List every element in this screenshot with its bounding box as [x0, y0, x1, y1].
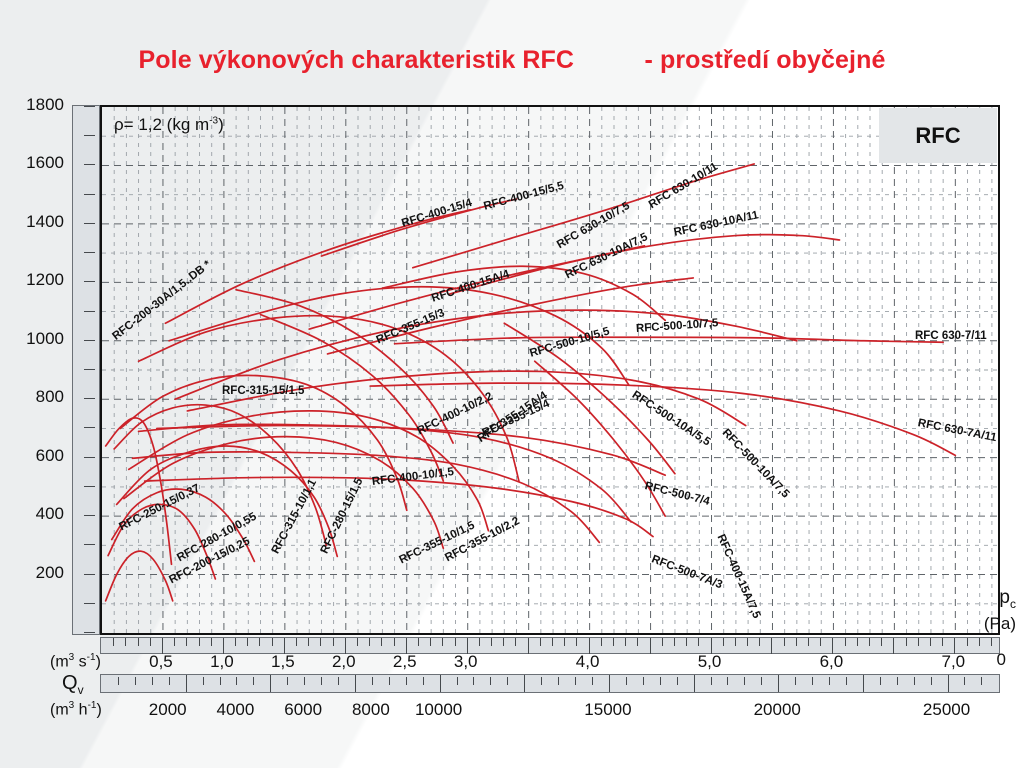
qv-axis-tick [609, 675, 610, 692]
y-axis-tick [84, 603, 95, 604]
x-axis-tick [394, 638, 395, 646]
qv-axis-tick [778, 675, 779, 692]
x-axis-tick [552, 638, 553, 646]
y-axis-tick [84, 223, 95, 224]
y-axis-symbol: p [999, 587, 1010, 608]
x-axis-tick [918, 638, 919, 646]
curve-label: RFC-315-15/1,5 [222, 385, 304, 397]
x-axis-tick [430, 638, 431, 646]
qv-axis-tick-label: 20000 [754, 700, 801, 720]
x-axis-secondary-symbol: Qv [62, 672, 84, 697]
qv-axis-tick [389, 677, 390, 685]
performance-curve [132, 452, 599, 543]
x-axis-tick [906, 638, 907, 646]
qv-axis-tick [440, 675, 441, 692]
y-axis-tick [84, 340, 95, 341]
y-axis-title: pc (Pa) [984, 588, 1016, 634]
x-axis-tick [796, 638, 797, 646]
x-axis-tick-label: 1,0 [210, 652, 234, 672]
qv-axis-tick [118, 677, 119, 685]
y-axis-tick [84, 544, 95, 545]
x-axis-tick [625, 638, 626, 646]
y-axis-tick [84, 106, 95, 107]
x-axis-tick-label: 6,0 [820, 652, 844, 672]
qv-axis-tick [541, 677, 542, 685]
x-axis-tick [881, 638, 882, 646]
x-axis-tick [138, 638, 139, 646]
qv-axis-tick [355, 675, 356, 692]
y-axis-tick-label: 200 [36, 563, 64, 583]
qv-axis-tick [829, 677, 830, 685]
x-axis-tick [540, 638, 541, 646]
x-axis-tick [515, 638, 516, 646]
x-axis-tick [637, 638, 638, 646]
x-axis-tick [150, 638, 151, 646]
x-axis-tick [723, 638, 724, 646]
x-axis-tick [247, 638, 248, 646]
qv-axis-tick [152, 677, 153, 685]
qv-axis-tick [914, 677, 915, 685]
x-axis-tick [845, 638, 846, 646]
qv-axis-tick [846, 677, 847, 685]
qv-axis-tick-label: 2000 [149, 700, 187, 720]
qv-axis-tick [287, 677, 288, 685]
y-axis-tick [84, 164, 95, 165]
x-axis-tick [333, 638, 334, 646]
qv-axis-tick-label: 25000 [923, 700, 970, 720]
y-axis-tick [84, 398, 95, 399]
x-axis-tick [930, 638, 931, 646]
qv-axis-tick [135, 677, 136, 685]
x-axis-tick-label: 7,0 [942, 652, 966, 672]
qv-axis-tick [558, 677, 559, 685]
x-axis-tick [503, 638, 504, 646]
qv-axis-tick-label: 15000 [584, 700, 631, 720]
qv-axis-tick [372, 677, 373, 685]
qv-axis-tick-label: 4000 [217, 700, 255, 720]
qv-axis-tick [236, 677, 237, 685]
y-axis-tick-label: 1800 [26, 95, 64, 115]
qv-axis-tick [744, 677, 745, 685]
x-axis-tick [613, 638, 614, 646]
y-axis-symbol-sub: c [1010, 597, 1016, 611]
x-axis-tick [296, 638, 297, 646]
qv-axis-tick [964, 677, 965, 685]
qv-axis-tick [643, 677, 644, 685]
qv-axis-tick [507, 677, 508, 685]
y-axis-tick [84, 135, 95, 136]
qv-axis-tick [897, 677, 898, 685]
x-axis-secondary-labels: 200040006000800010000150002000025000 [0, 700, 1024, 724]
x-axis-tick [601, 638, 602, 646]
y-axis-tick-label: 600 [36, 446, 64, 466]
x-axis-tick [674, 638, 675, 646]
qv-axis-tick [812, 677, 813, 685]
qv-axis-tick [490, 677, 491, 685]
rfc-badge: RFC [879, 108, 997, 163]
qv-axis-tick [575, 677, 576, 685]
x-axis-tick [979, 638, 980, 646]
qv-axis-tick [423, 677, 424, 685]
x-axis-tick [199, 638, 200, 646]
x-axis-tick [369, 638, 370, 646]
x-axis-tick [442, 638, 443, 646]
y-axis-tick [84, 457, 95, 458]
qv-axis-tick [406, 677, 407, 685]
qv-axis-tick [711, 677, 712, 685]
y-axis-tick-column [72, 105, 100, 635]
performance-curve [139, 424, 632, 522]
x-axis-tick-label: 2,5 [393, 652, 417, 672]
x-axis-tick [308, 638, 309, 646]
x-axis-tick-label: 3,0 [454, 652, 478, 672]
x-axis-tick [113, 638, 114, 646]
x-axis-tick [357, 638, 358, 646]
qv-axis-tick [253, 677, 254, 685]
y-axis-tick [84, 486, 95, 487]
qv-axis-tick-label: 8000 [352, 700, 390, 720]
qv-axis-tick [863, 675, 864, 692]
x-axis-tick [320, 638, 321, 646]
x-axis-tick [455, 638, 456, 646]
qv-axis-tick [270, 675, 271, 692]
qv-axis-tick-label: 10000 [415, 700, 462, 720]
x-axis-secondary-strip [100, 674, 1000, 693]
x-axis-tick [686, 638, 687, 646]
x-axis-tick [125, 638, 126, 646]
qv-axis-tick [660, 677, 661, 685]
qv-axis-tick [524, 675, 525, 692]
x-axis-tick [381, 638, 382, 646]
qv-axis-tick [880, 677, 881, 685]
page-title: Pole výkonových charakteristik RFC - pro… [0, 46, 1024, 75]
qv-axis-tick [626, 677, 627, 685]
x-axis-tick [272, 638, 273, 646]
y-axis-tick-label: 1000 [26, 329, 64, 349]
qv-axis-tick [338, 677, 339, 685]
x-axis-tick [235, 638, 236, 646]
y-axis-tick [84, 369, 95, 370]
x-axis-tick [174, 638, 175, 646]
x-axis-tick [942, 638, 943, 646]
y-axis-tick [84, 574, 95, 575]
x-axis-tick-label: 5,0 [698, 652, 722, 672]
x-axis-tick [857, 638, 858, 646]
x-axis-tick [869, 638, 870, 646]
chart-plot-area: ρ= 1,2 (kg m-3) RFC RFC-200-15/0,25RFC-2… [100, 105, 1000, 635]
qv-axis-tick [761, 677, 762, 685]
x-axis-tick [808, 638, 809, 646]
qv-axis-tick [694, 675, 695, 692]
x-axis-tick [576, 638, 577, 646]
x-axis-tick-label: 4,0 [576, 652, 600, 672]
qv-axis-tick [321, 677, 322, 685]
x-axis-tick-label: 0,5 [149, 652, 173, 672]
y-axis-tick [84, 632, 95, 633]
x-axis-tick [735, 638, 736, 646]
qv-axis-tick [931, 677, 932, 685]
y-axis-tick [84, 281, 95, 282]
y-axis-unit: (Pa) [984, 614, 1016, 634]
x-axis-tick [784, 638, 785, 646]
qv-axis-tick [186, 675, 187, 692]
y-axis-tick-label: 1400 [26, 212, 64, 232]
qv-axis-tick [203, 677, 204, 685]
y-axis-tick [84, 515, 95, 516]
y-axis-tick [84, 311, 95, 312]
x-axis-tick [211, 638, 212, 646]
qv-axis-tick [948, 675, 949, 692]
x-axis-tick [186, 638, 187, 646]
qv-axis-tick [795, 677, 796, 685]
curve-label: RFC 630-7/11 [915, 330, 987, 342]
qv-axis-tick [304, 677, 305, 685]
y-axis-tick-label: 1200 [26, 270, 64, 290]
y-axis-tick-label: 800 [36, 387, 64, 407]
x-axis-tick [967, 638, 968, 646]
x-axis-tick [991, 638, 992, 646]
qv-axis-tick [592, 677, 593, 685]
x-axis-tick-label: 2,0 [332, 652, 356, 672]
y-axis-tick [84, 194, 95, 195]
density-annotation: ρ= 1,2 (kg m-3) [114, 115, 224, 135]
qv-axis-tick [727, 677, 728, 685]
qv-axis-tick [677, 677, 678, 685]
qv-axis-tick [220, 677, 221, 685]
x-axis-tick [820, 638, 821, 646]
qv-axis-tick [981, 677, 982, 685]
performance-curve [236, 290, 453, 443]
y-axis-tick [84, 427, 95, 428]
x-axis-tick [747, 638, 748, 646]
qv-axis-tick [169, 677, 170, 685]
x-axis-tick-label: 1,5 [271, 652, 295, 672]
x-axis-tick [564, 638, 565, 646]
y-axis-tick-label: 1600 [26, 153, 64, 173]
x-axis-tick [259, 638, 260, 646]
qv-axis-tick-label: 6000 [284, 700, 322, 720]
x-axis-primary-labels: 0,51,01,52,02,53,04,05,06,07,0 [0, 652, 1024, 676]
x-axis-tick [759, 638, 760, 646]
x-axis-tick [479, 638, 480, 646]
y-axis-tick-label: 400 [36, 504, 64, 524]
x-axis-tick [491, 638, 492, 646]
qv-axis-tick [457, 677, 458, 685]
y-axis-tick [84, 252, 95, 253]
qv-axis-tick [473, 677, 474, 685]
x-axis-tick [698, 638, 699, 646]
x-axis-tick [418, 638, 419, 646]
x-axis-tick [662, 638, 663, 646]
